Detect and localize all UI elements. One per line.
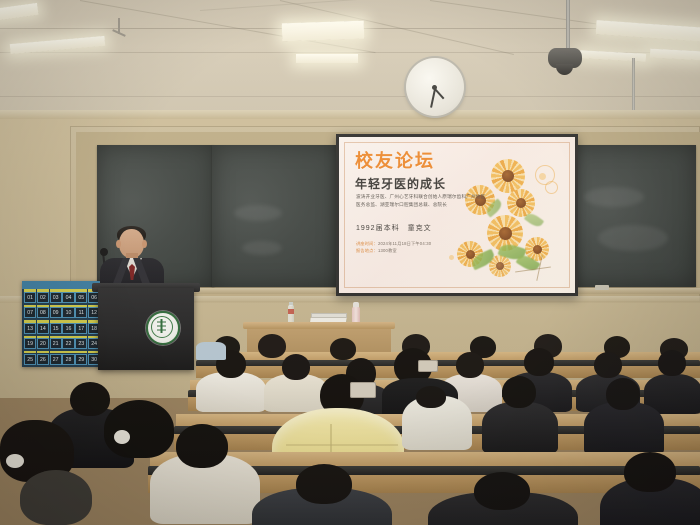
speaker-ear	[142, 240, 147, 248]
board-cell: 13	[24, 323, 36, 334]
projector-mount-pole	[566, 0, 570, 52]
lecture-hall-photo: 校友论坛 年轻牙医的成长 波涛开业牙医、广州心艺牙科联合创始人原瑞尔齿科广州地区…	[0, 0, 700, 525]
clock-center	[432, 85, 437, 90]
slide-meta-time: 讲座时间：2024年11月18日下午04:30	[356, 241, 431, 247]
blackboard-panel-center	[212, 145, 339, 287]
board-cell: 10	[62, 307, 74, 318]
ceiling-light-panel	[296, 54, 358, 63]
board-cell: 28	[62, 354, 74, 365]
ceiling	[0, 0, 700, 118]
board-cell: 07	[24, 307, 36, 318]
slide-body-text: 波涛开业牙医、广州心艺牙科联合创始人原瑞尔齿科广州地区医务总监、湖亚瑞尔口腔集团…	[356, 193, 488, 210]
chalk-eraser	[595, 285, 609, 290]
sunflower-icon	[491, 159, 525, 193]
slide-meta-location: 报告地点：1300教室	[356, 248, 397, 254]
slide-meta-location-key: 报告地点：	[356, 248, 378, 253]
slide-speaker-line: 1992届本科 童克文	[356, 223, 432, 233]
board-cell: 08	[37, 307, 49, 318]
slide-title: 校友论坛	[355, 147, 435, 173]
board-cell: 26	[37, 354, 49, 365]
board-cell: 27	[50, 354, 62, 365]
hair-clip-icon	[350, 382, 376, 398]
crest-mark	[157, 319, 166, 333]
board-cell: 21	[50, 338, 62, 349]
front-table-top	[243, 322, 395, 329]
board-cell: 11	[75, 307, 87, 318]
hair-tie-icon	[114, 430, 130, 444]
ceiling-light-panel	[596, 20, 700, 42]
ceiling-light-panel	[282, 21, 365, 42]
board-cell: 17	[75, 323, 87, 334]
board-cell: 15	[50, 323, 62, 334]
board-cell: 01	[24, 292, 36, 303]
hair-tie-icon	[6, 454, 24, 468]
clock-minute-hand	[430, 89, 436, 108]
ceiling-light-panel	[650, 49, 700, 61]
board-cell: 09	[50, 307, 62, 318]
board-cell: 20	[37, 338, 49, 349]
slide-meta-time-key: 讲座时间：	[356, 241, 378, 246]
board-cell: 25	[24, 354, 36, 365]
projection-screen: 校友论坛 年轻牙医的成长 波涛开业牙医、广州心艺牙科联合创始人原瑞尔齿科广州地区…	[336, 134, 578, 296]
blackboard-panel-right	[568, 145, 696, 287]
board-cell: 23	[75, 338, 87, 349]
board-cell: 14	[37, 323, 49, 334]
bottle-label	[288, 309, 294, 314]
hair-clip-icon	[418, 360, 438, 372]
board-cell: 16	[62, 323, 74, 334]
board-cell: 19	[24, 338, 36, 349]
wall-clock	[406, 58, 464, 116]
ceiling-light-panel	[0, 3, 39, 21]
board-cell: 05	[75, 292, 87, 303]
board-cell: 02	[37, 292, 49, 303]
speaker-ear	[116, 240, 121, 248]
presentation-slide: 校友论坛 年轻牙医的成长 波涛开业牙医、广州心艺牙科联合创始人原瑞尔齿科广州地区…	[339, 137, 575, 293]
microphone-icon	[100, 248, 108, 256]
slide-meta-location-value: 1300教室	[378, 248, 397, 253]
board-cell: 22	[62, 338, 74, 349]
board-cell: 04	[62, 292, 74, 303]
slide-meta-time-value: 2024年11月18日下午04:30	[378, 241, 431, 246]
board-cell: 29	[75, 354, 87, 365]
wall-trim-upper	[0, 110, 700, 119]
board-cell: 03	[50, 292, 62, 303]
slide-subtitle: 年轻牙医的成长	[355, 175, 446, 192]
